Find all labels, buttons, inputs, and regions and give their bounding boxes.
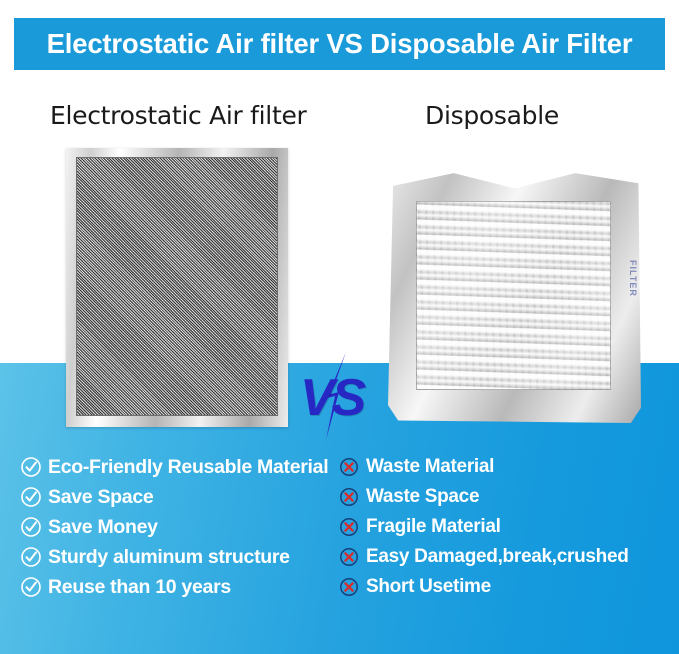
list-item-label: Eco-Friendly Reusable Material (48, 456, 328, 479)
pros-list: Eco-Friendly Reusable Material Save Spac… (20, 452, 350, 602)
x-circle-icon (338, 456, 360, 478)
list-item: Reuse than 10 years (20, 572, 350, 602)
check-circle-icon (20, 456, 42, 478)
list-item-label: Short Usetime (366, 576, 491, 598)
list-item-label: Sturdy aluminum structure (48, 546, 290, 569)
list-item-label: Save Space (48, 486, 153, 509)
list-item-label: Reuse than 10 years (48, 576, 231, 599)
list-item-label: Save Money (48, 516, 158, 539)
x-circle-icon (338, 576, 360, 598)
aluminum-mesh-texture (76, 157, 278, 416)
list-item: Sturdy aluminum structure (20, 542, 350, 572)
check-circle-icon (20, 486, 42, 508)
cons-list: Waste Material Waste Space Fragile Mater… (338, 452, 668, 602)
disposable-filter-image: FILTER (388, 168, 641, 423)
list-item-label: Waste Material (366, 456, 494, 478)
x-circle-icon (338, 546, 360, 568)
filter-side-label: FILTER (624, 260, 638, 338)
x-circle-icon (338, 516, 360, 538)
header-banner: Electrostatic Air filter VS Disposable A… (14, 18, 665, 70)
right-column-subtitle: Disposable (425, 101, 559, 130)
fiberglass-media-texture (416, 201, 611, 390)
page-title: Electrostatic Air filter VS Disposable A… (47, 28, 633, 60)
list-item: Save Money (20, 512, 350, 542)
list-item-label: Waste Space (366, 486, 479, 508)
check-circle-icon (20, 576, 42, 598)
left-column-subtitle: Electrostatic Air filter (50, 101, 307, 130)
list-item-label: Fragile Material (366, 516, 501, 538)
infographic-root: Electrostatic Air filter VS Disposable A… (0, 0, 679, 654)
check-circle-icon (20, 546, 42, 568)
list-item: Waste Material (338, 452, 668, 482)
list-item: Save Space (20, 482, 350, 512)
list-item: Short Usetime (338, 572, 668, 602)
list-item: Fragile Material (338, 512, 668, 542)
x-circle-icon (338, 486, 360, 508)
check-circle-icon (20, 516, 42, 538)
list-item: Eco-Friendly Reusable Material (20, 452, 350, 482)
list-item: Waste Space (338, 482, 668, 512)
list-item-label: Easy Damaged,break,crushed (366, 546, 629, 568)
list-item: Easy Damaged,break,crushed (338, 542, 668, 572)
electrostatic-filter-image (66, 148, 288, 427)
